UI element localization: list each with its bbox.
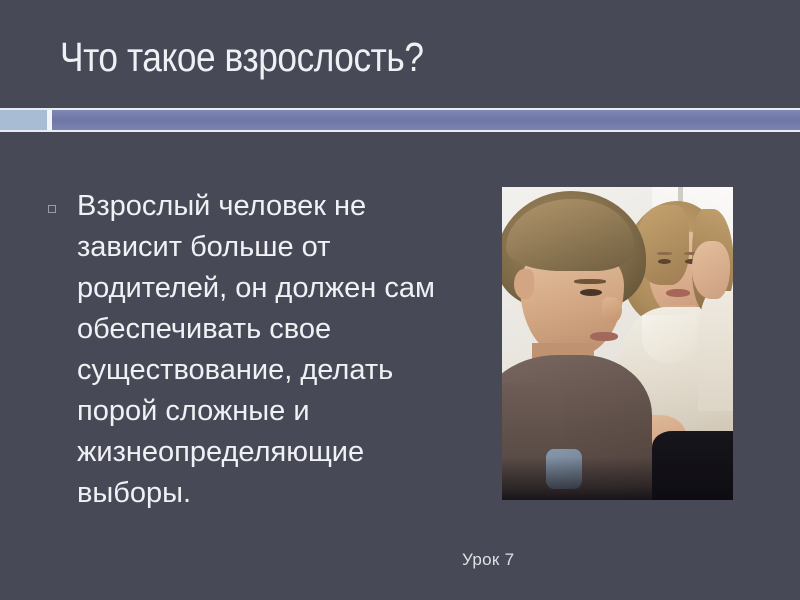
slide-footer-note: Урок 7 xyxy=(462,549,514,571)
photo-foreground-shadow xyxy=(502,457,733,500)
divider-accent-block xyxy=(0,110,47,130)
photo-woman-hand-at-head xyxy=(692,241,730,299)
body-text-block: Взрослый человек не зависит больше от ро… xyxy=(44,186,464,514)
photo-boy-mouth xyxy=(590,332,618,341)
photo-woman-top xyxy=(642,315,696,363)
presentation-slide: Что такое взрослость? Взрослый человек н… xyxy=(0,0,800,600)
photo-woman-nose xyxy=(672,267,680,281)
divider-rule-bottom xyxy=(0,130,800,132)
square-bullet-icon xyxy=(48,205,56,213)
bullet-item-text: Взрослый человек не зависит больше от ро… xyxy=(77,186,464,514)
slide-title-area: Что такое взрослость? xyxy=(0,0,800,108)
photo-boy-eye xyxy=(580,289,602,296)
page-title: Что такое взрослость? xyxy=(60,32,424,82)
photo-boy-ear xyxy=(514,269,534,299)
photo-woman-brow-left xyxy=(657,252,672,255)
photo-woman-eye-left xyxy=(658,259,671,264)
photo-woman-mouth xyxy=(666,289,690,297)
photo-woman-arm xyxy=(698,291,733,411)
slide-photo xyxy=(502,187,733,500)
title-divider-band xyxy=(0,107,800,133)
divider-bar xyxy=(52,110,800,130)
photo-boy-nose xyxy=(602,297,622,323)
photo-boy-brow xyxy=(574,279,606,284)
